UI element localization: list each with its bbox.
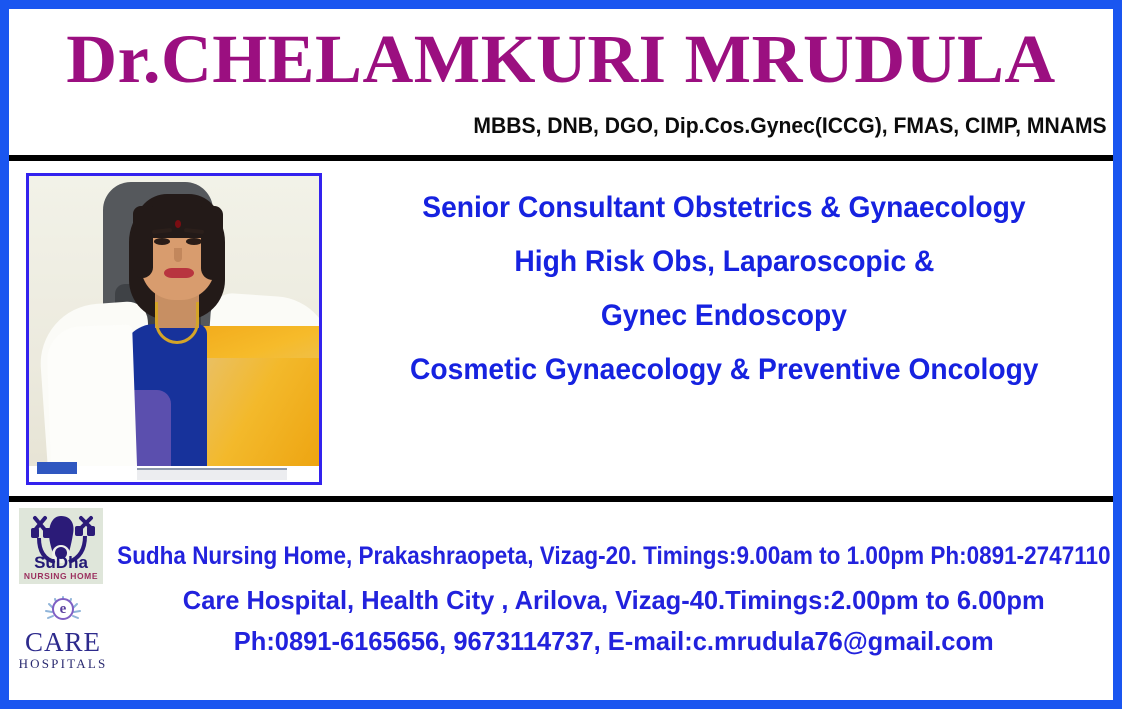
- phone-email-line: Ph:0891-6165656, 9673114737, E-mail:c.mr…: [234, 626, 994, 657]
- service-line-4: Cosmetic Gynaecology & Preventive Oncolo…: [410, 343, 1038, 397]
- business-card: Dr.CHELAMKURI MRUDULA MBBS, DNB, DGO, Di…: [0, 0, 1122, 709]
- care-hospitals-logo: e CARE HOSPITALS: [15, 596, 111, 676]
- hair-side-right: [201, 206, 223, 280]
- care-logo-subtitle: HOSPITALS: [15, 656, 111, 672]
- card-footer: SuDha NURSING HOME: [9, 502, 1113, 696]
- sudha-nursing-home-logo: SuDha NURSING HOME: [19, 508, 103, 584]
- doctor-photo: [26, 173, 322, 485]
- service-line-2: High Risk Obs, Laparoscopic &: [514, 235, 934, 289]
- necklace: [155, 302, 199, 344]
- service-line-1: Senior Consultant Obstetrics & Gynaecolo…: [422, 181, 1025, 235]
- card-header: Dr.CHELAMKURI MRUDULA MBBS, DNB, DGO, Di…: [9, 9, 1113, 155]
- clinic-care-line: Care Hospital, Health City , Arilova, Vi…: [183, 585, 1045, 616]
- services-list: Senior Consultant Obstetrics & Gynaecolo…: [339, 165, 1109, 496]
- page-title: Dr.CHELAMKURI MRUDULA: [0, 21, 1122, 97]
- hair-side-left: [133, 206, 153, 278]
- card-body: Senior Consultant Obstetrics & Gynaecolo…: [9, 161, 1113, 496]
- care-logo-name: CARE: [15, 628, 111, 656]
- white-drape: [46, 325, 138, 485]
- desk-paper: [137, 468, 287, 480]
- eye-left: [154, 238, 170, 245]
- care-sunburst-icon: e: [15, 596, 111, 628]
- clinic-sudha-line: Sudha Nursing Home, Prakashraopeta, Viza…: [117, 542, 1110, 571]
- eye-right: [186, 238, 202, 245]
- logo-group: SuDha NURSING HOME: [13, 506, 117, 692]
- qualifications-text: MBBS, DNB, DGO, Dip.Cos.Gynec(ICCG), FMA…: [474, 113, 1107, 139]
- bindi-icon: [175, 220, 181, 228]
- sudha-logo-name: SuDha: [19, 554, 103, 572]
- lips: [164, 268, 194, 278]
- service-line-3: Gynec Endoscopy: [601, 289, 847, 343]
- sudha-logo-subtitle: NURSING HOME: [19, 571, 103, 581]
- nose: [174, 248, 182, 262]
- desk-object: [37, 462, 77, 474]
- care-e-mark: e: [52, 598, 74, 620]
- contact-details: Sudha Nursing Home, Prakashraopeta, Viza…: [117, 502, 1111, 696]
